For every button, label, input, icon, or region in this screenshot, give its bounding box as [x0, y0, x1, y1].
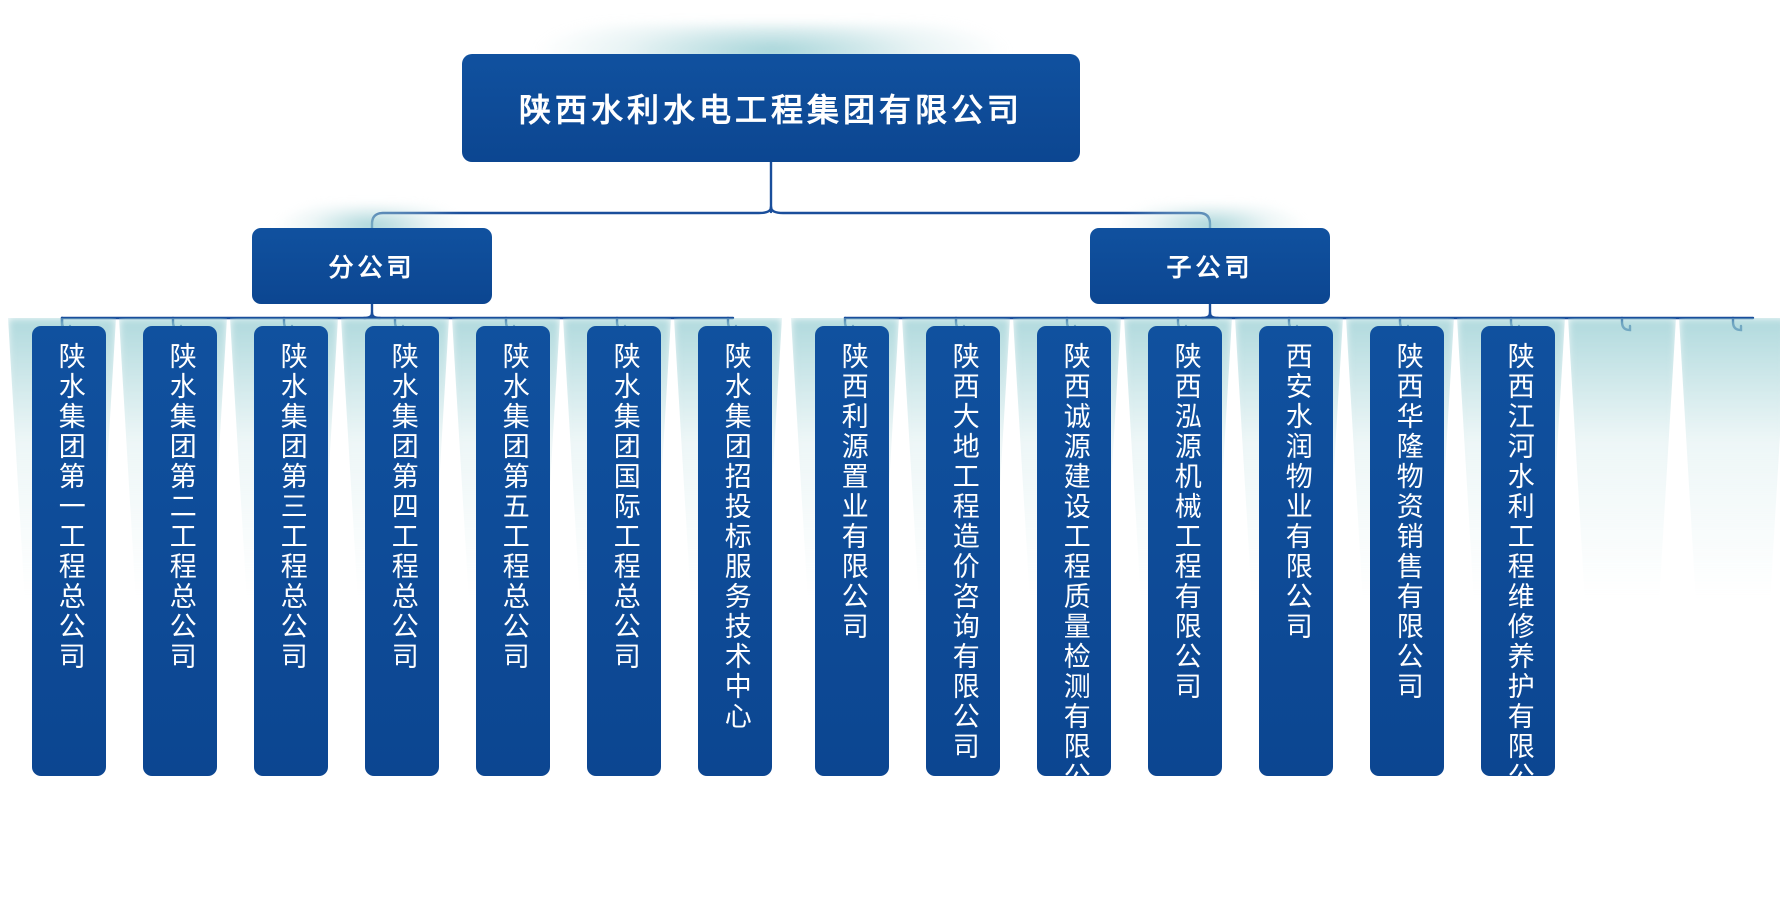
leaf-node-label: 陕水集团第二工程总公司 [166, 342, 194, 672]
leaf-node[interactable]: 陕水集团第五工程总公司 [476, 326, 550, 776]
leaf-node[interactable]: 陕水集团第四工程总公司 [365, 326, 439, 776]
root-node-label: 陕西水利水电工程集团有限公司 [519, 85, 1023, 131]
leaf-node[interactable]: 陕西利源置业有限公司 [815, 326, 889, 776]
leaf-node[interactable]: 陕西诚源建设工程质量检测有限公司 [1037, 326, 1111, 776]
leaf-node-label: 陕水集团第一工程总公司 [55, 342, 83, 672]
leaf-node[interactable]: 陕水集团国际工程总公司 [587, 326, 661, 776]
leaf-node[interactable]: 陕西华隆物资销售有限公司 [1370, 326, 1444, 776]
leaf-node-label: 陕西大地工程造价咨询有限公司 [949, 342, 977, 762]
leaf-node-label: 陕水集团国际工程总公司 [610, 342, 638, 672]
leaf-node[interactable]: 陕水集团招投标服务技术中心 [698, 326, 772, 776]
leaf-node[interactable]: 陕西大地工程造价咨询有限公司 [926, 326, 1000, 776]
leaf-node-label: 陕西利源置业有限公司 [838, 342, 866, 642]
leaf-node-label: 陕水集团第四工程总公司 [388, 342, 416, 672]
leaf-node[interactable]: 陕水集团第一工程总公司 [32, 326, 106, 776]
leaf-node-label: 陕西诚源建设工程质量检测有限公司 [1060, 342, 1088, 822]
group-node-branch[interactable]: 分公司 [252, 228, 492, 304]
leaf-node-label: 陕水集团第三工程总公司 [277, 342, 305, 672]
root-node[interactable]: 陕西水利水电工程集团有限公司 [462, 54, 1080, 162]
leaf-node[interactable]: 陕水集团第二工程总公司 [143, 326, 217, 776]
leaf-node-label: 陕水集团招投标服务技术中心 [721, 342, 749, 732]
leaf-node-label: 陕西华隆物资销售有限公司 [1393, 342, 1421, 702]
leaf-node[interactable]: 陕水集团第三工程总公司 [254, 326, 328, 776]
leaf-shadow [1568, 318, 1676, 788]
org-chart: 陕西水利水电工程集团有限公司 分公司 子公司 陕水集团第一工程总公司 陕水集团第… [0, 0, 1780, 911]
leaf-node[interactable]: 陕西江河水利工程维修养护有限公司 [1481, 326, 1555, 776]
leaf-node-label: 陕西泓源机械工程有限公司 [1171, 342, 1199, 702]
leaf-node-label: 陕西江河水利工程维修养护有限公司 [1504, 342, 1532, 822]
leaf-shadow [1679, 318, 1780, 788]
leaf-node-label: 西安水润物业有限公司 [1282, 342, 1310, 642]
group-node-subsidiary[interactable]: 子公司 [1090, 228, 1330, 304]
group-node-branch-label: 分公司 [328, 248, 415, 284]
leaf-node[interactable]: 西安水润物业有限公司 [1259, 326, 1333, 776]
group-node-subsidiary-label: 子公司 [1166, 248, 1253, 284]
leaf-node-label: 陕水集团第五工程总公司 [499, 342, 527, 672]
leaf-node[interactable]: 陕西泓源机械工程有限公司 [1148, 326, 1222, 776]
